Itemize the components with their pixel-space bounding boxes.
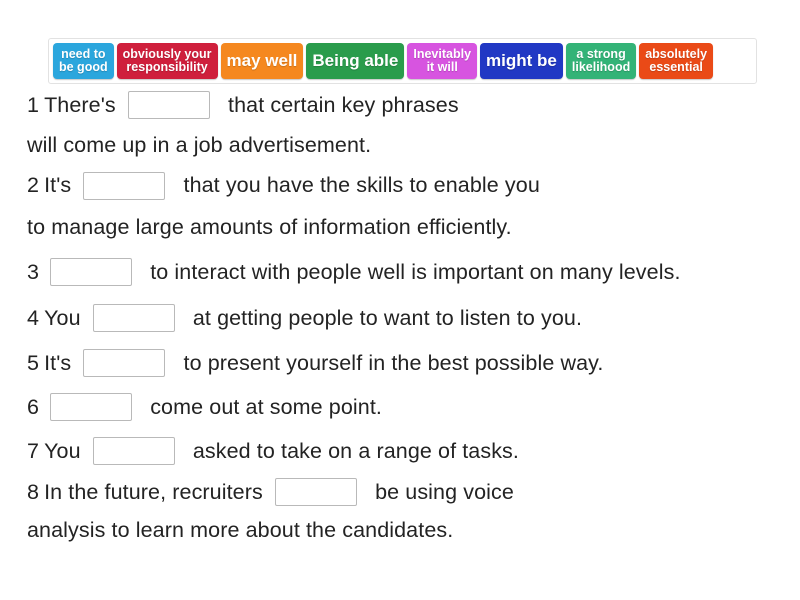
sentence-8-line-1: 8In the future, recruiters be using voic… [27, 473, 787, 511]
word-tile-7[interactable]: absolutely essential [639, 43, 713, 79]
answer-blank-8[interactable] [275, 478, 357, 506]
sentence-5-line-1: 5It's to present yourself in the best po… [27, 341, 787, 385]
answer-blank-7[interactable] [93, 437, 175, 465]
answer-blank-5[interactable] [83, 349, 165, 377]
sentence-text: asked to take on a range of tasks. [181, 439, 519, 464]
word-tile-3[interactable]: Being able [306, 43, 404, 79]
word-tile-4[interactable]: Inevitably it will [407, 43, 477, 79]
sentence-number: 8 [27, 480, 39, 505]
sentence-text: at getting people to want to listen to y… [181, 306, 582, 331]
sentence-number: 6 [27, 395, 39, 420]
sentence-2-line-2: to manage large amounts of information e… [27, 205, 787, 249]
sentence-text: In the future, recruiters [44, 480, 269, 505]
sentence-text: be using voice [363, 480, 514, 505]
word-tile-2[interactable]: may well [221, 43, 304, 79]
word-tile-5[interactable]: might be [480, 43, 563, 79]
answer-blank-3[interactable] [50, 258, 132, 286]
sentence-8: 8In the future, recruiters be using voic… [27, 473, 787, 549]
sentence-2-line-1: 2It's that you have the skills to enable… [27, 166, 787, 205]
word-tile-0[interactable]: need to be good [53, 43, 114, 79]
sentence-text: will come up in a job advertisement. [27, 133, 371, 158]
sentence-1: 1There's that certain key phraseswill co… [27, 86, 787, 166]
sentence-text: to present yourself in the best possible… [171, 351, 603, 376]
word-bank[interactable]: need to be goodobviously your responsibi… [48, 38, 757, 84]
answer-blank-6[interactable] [50, 393, 132, 421]
sentence-number: 3 [27, 260, 39, 285]
sentence-1-line-1: 1There's that certain key phrases [27, 86, 787, 124]
sentence-text: to manage large amounts of information e… [27, 215, 512, 240]
sentence-number: 4 [27, 306, 39, 331]
sentence-number: 1 [27, 93, 39, 118]
sentence-number: 7 [27, 439, 39, 464]
sentence-3: 3 to interact with people well is import… [27, 249, 787, 295]
sentence-number: 2 [27, 173, 39, 198]
sentence-list: 1There's that certain key phraseswill co… [27, 86, 787, 549]
sentence-text: that you have the skills to enable you [171, 173, 540, 198]
word-tile-1[interactable]: obviously your responsibility [117, 43, 218, 79]
sentence-text: You [44, 439, 87, 464]
sentence-number: 5 [27, 351, 39, 376]
sentence-2: 2It's that you have the skills to enable… [27, 166, 787, 249]
sentence-text: You [44, 306, 87, 331]
sentence-6: 6 come out at some point. [27, 385, 787, 429]
sentence-text: There's [44, 93, 122, 118]
sentence-text: come out at some point. [138, 395, 382, 420]
sentence-5: 5It's to present yourself in the best po… [27, 341, 787, 385]
sentence-7-line-1: 7You asked to take on a range of tasks. [27, 429, 787, 473]
sentence-text: It's [44, 173, 77, 198]
sentence-text: to interact with people well is importan… [138, 260, 680, 285]
answer-blank-4[interactable] [93, 304, 175, 332]
sentence-1-line-2: will come up in a job advertisement. [27, 124, 787, 166]
sentence-text: that certain key phrases [216, 93, 459, 118]
word-tile-6[interactable]: a strong likelihood [566, 43, 636, 79]
sentence-text: It's [44, 351, 77, 376]
sentence-8-line-2: analysis to learn more about the candida… [27, 511, 787, 549]
answer-blank-1[interactable] [128, 91, 210, 119]
sentence-3-line-1: 3 to interact with people well is import… [27, 249, 787, 295]
sentence-4-line-1: 4You at getting people to want to listen… [27, 295, 787, 341]
sentence-7: 7You asked to take on a range of tasks. [27, 429, 787, 473]
answer-blank-2[interactable] [83, 172, 165, 200]
sentence-text: analysis to learn more about the candida… [27, 518, 453, 543]
sentence-4: 4You at getting people to want to listen… [27, 295, 787, 341]
sentence-6-line-1: 6 come out at some point. [27, 385, 787, 429]
